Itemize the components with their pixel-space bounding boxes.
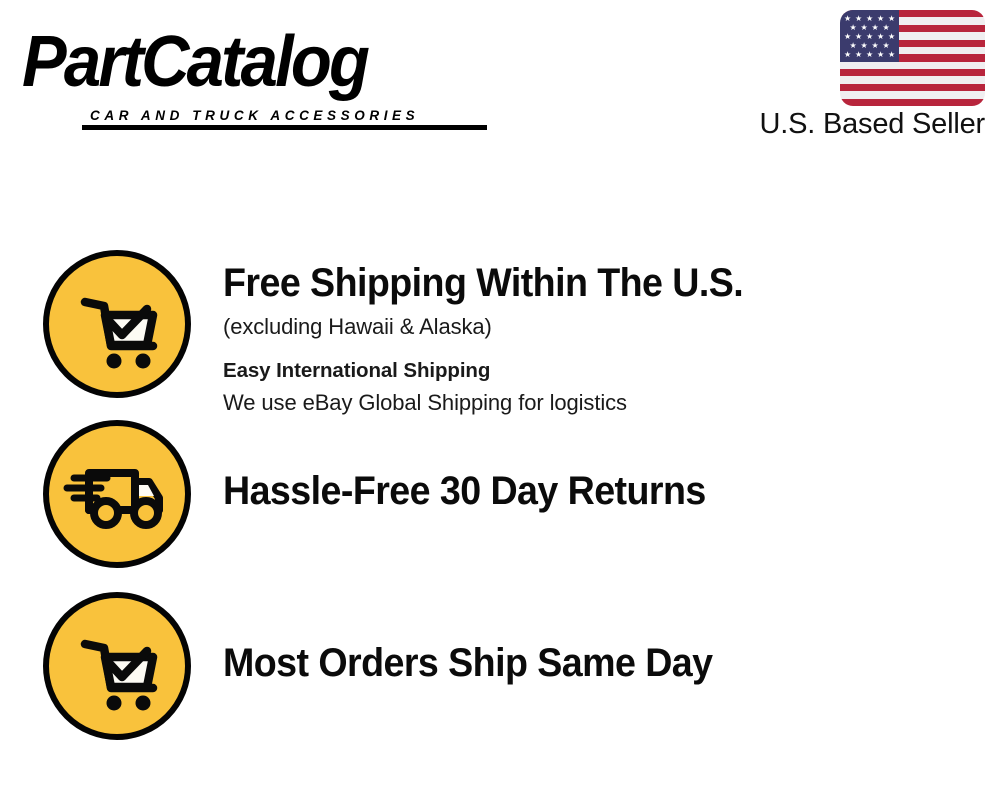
feature-title: Most Orders Ship Same Day [223, 640, 937, 686]
feature-subtext: We use eBay Global Shipping for logistic… [223, 388, 983, 418]
feature-list: Free Shipping Within The U.S. (excluding… [0, 0, 1000, 800]
feature-item: Hassle-Free 30 Day Returns [0, 420, 1000, 570]
delivery-truck-icon [43, 420, 191, 568]
feature-item: Most Orders Ship Same Day [0, 592, 1000, 742]
feature-title: Hassle-Free 30 Day Returns [223, 468, 937, 514]
feature-item: Free Shipping Within The U.S. (excluding… [0, 250, 1000, 400]
feature-text-block: Most Orders Ship Same Day [223, 640, 983, 686]
feature-subtext: (excluding Hawaii & Alaska) [223, 312, 983, 342]
shopping-cart-check-icon [43, 592, 191, 740]
feature-subtext-bold: Easy International Shipping [223, 356, 983, 386]
feature-text-block: Free Shipping Within The U.S. (excluding… [223, 260, 983, 418]
feature-text-block: Hassle-Free 30 Day Returns [223, 468, 983, 514]
feature-title: Free Shipping Within The U.S. [223, 260, 937, 306]
shopping-cart-check-icon [43, 250, 191, 398]
